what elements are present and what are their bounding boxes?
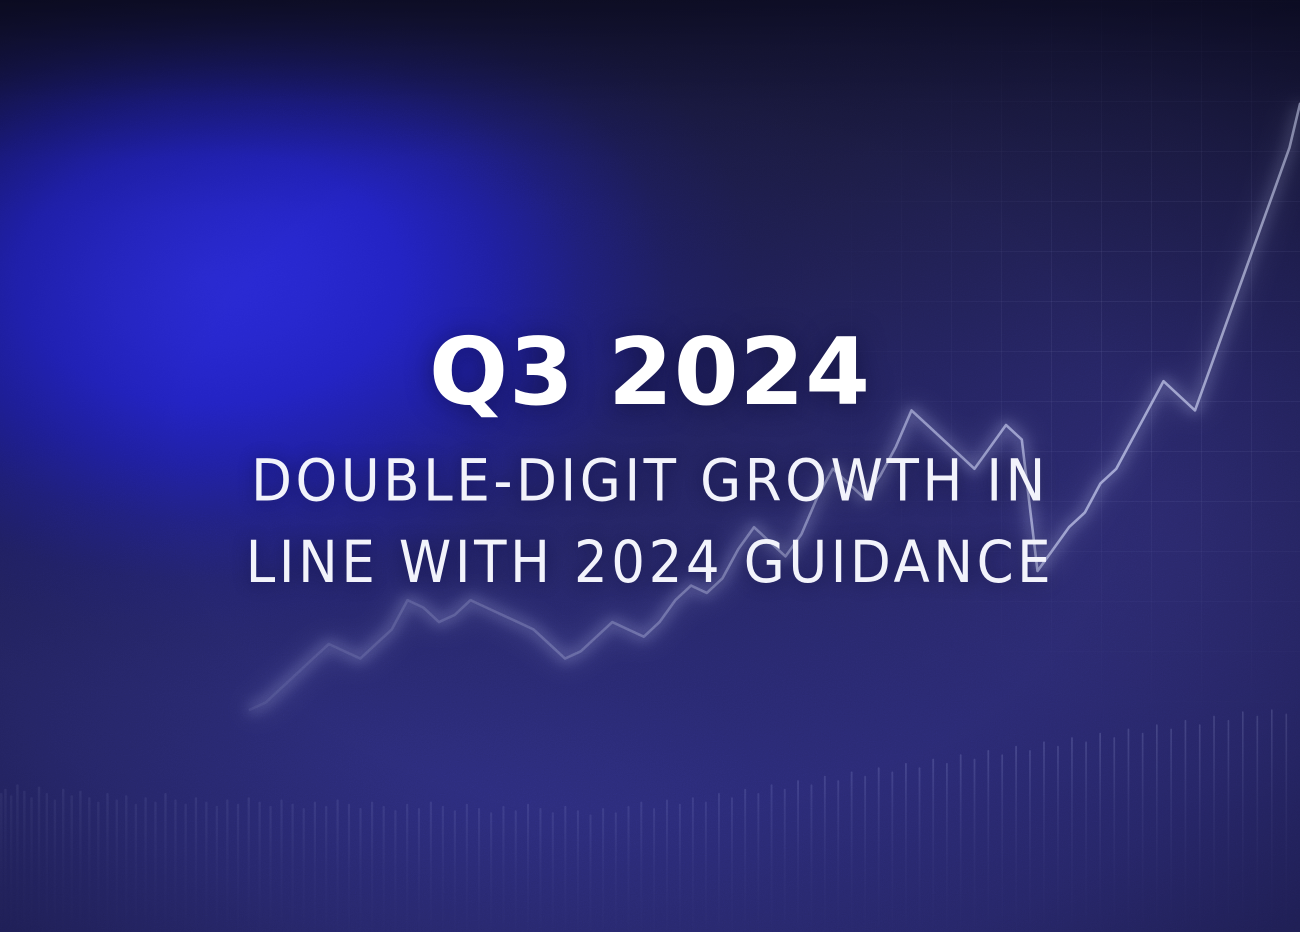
page-subtitle-line-2: LINE WITH 2024 GUIDANCE [0,523,1300,605]
page-subtitle-line-1: DOUBLE-DIGIT GROWTH IN [0,441,1300,523]
page-subtitle: DOUBLE-DIGIT GROWTH IN LINE WITH 2024 GU… [0,441,1300,604]
bottom-bar-chart [0,697,1300,932]
page-title: Q3 2024 [0,326,1300,419]
slide-canvas: Q3 2024 DOUBLE-DIGIT GROWTH IN LINE WITH… [0,0,1300,932]
title-block: Q3 2024 DOUBLE-DIGIT GROWTH IN LINE WITH… [0,326,1300,589]
